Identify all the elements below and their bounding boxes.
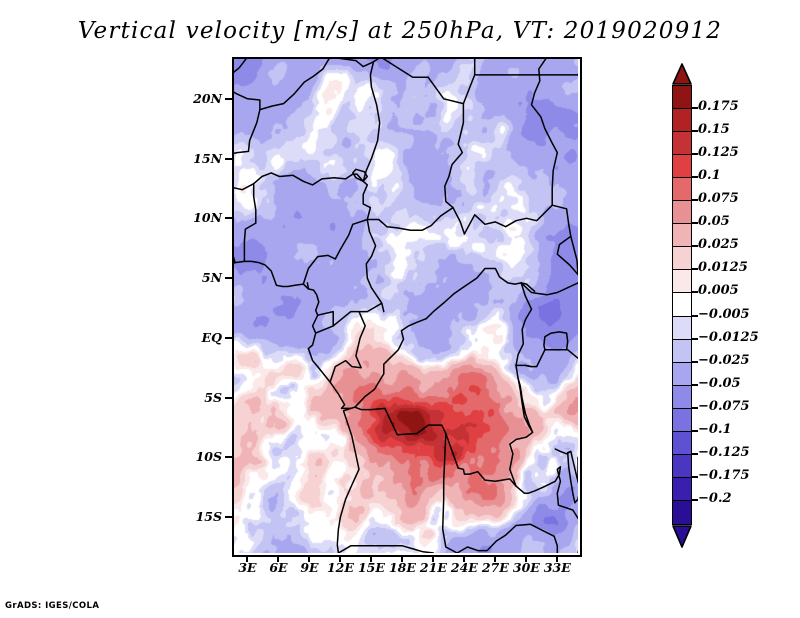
x-axis-label: 33E	[527, 560, 587, 575]
border-path	[232, 157, 254, 189]
colorbar-label: −0.125	[698, 445, 750, 460]
colorbar-swatch[interactable]	[672, 431, 692, 456]
colorbar-swatch[interactable]	[672, 362, 692, 387]
border-path	[544, 332, 568, 350]
border-path	[355, 407, 516, 486]
border-path	[232, 57, 260, 159]
y-axis-label: 10N	[193, 210, 222, 225]
border-path	[516, 365, 532, 366]
border-path	[568, 350, 578, 358]
border-path	[316, 312, 334, 334]
colorbar-swatch[interactable]	[672, 154, 692, 179]
colorbar-swatch[interactable]	[672, 269, 692, 294]
colorbar-swatch[interactable]	[672, 246, 692, 271]
colorbar-swatch[interactable]	[672, 385, 692, 410]
colorbar-swatch[interactable]	[672, 339, 692, 364]
y-axis-tick	[225, 516, 232, 518]
border-path	[457, 524, 557, 553]
border-path	[232, 205, 235, 262]
colorbar-label: −0.075	[698, 399, 750, 414]
border-path	[303, 181, 370, 284]
grads-plot-window: Vertical velocity [m/s] at 250hPa, VT: 2…	[0, 0, 800, 618]
border-path	[555, 449, 571, 454]
y-axis-label-wrap: 15N	[160, 151, 222, 165]
colorbar-swatch[interactable]	[672, 131, 692, 156]
border-path	[337, 408, 359, 553]
colorbar-label: 0.1	[698, 168, 721, 183]
border-path	[338, 546, 433, 553]
colorbar-swatch[interactable]	[672, 200, 692, 225]
colorbar-swatch[interactable]	[672, 85, 692, 110]
colorbar-label: 0.15	[698, 122, 730, 137]
y-axis-label-wrap: 15S	[160, 509, 222, 523]
colorbar-label: −0.05	[698, 376, 741, 391]
y-axis-label-wrap: 10S	[160, 449, 222, 463]
colorbar-label: −0.005	[698, 307, 750, 322]
border-path	[568, 451, 578, 502]
y-axis-label: 10S	[196, 449, 222, 464]
border-path	[330, 312, 365, 383]
border-path	[557, 467, 578, 553]
colorbar-label: −0.0125	[698, 330, 759, 345]
colorbar-label: 0.025	[698, 237, 739, 252]
colorbar-label: 0.075	[698, 191, 739, 206]
colorbar[interactable]: 0.1750.150.1250.10.0750.050.0250.01250.0…	[670, 60, 796, 556]
country-borders-overlay	[232, 57, 578, 553]
border-path	[260, 57, 330, 110]
y-axis-tick	[225, 158, 232, 160]
y-axis-label-wrap: EQ	[160, 330, 222, 344]
colorbar-swatch[interactable]	[672, 177, 692, 202]
y-axis-tick	[225, 277, 232, 279]
colorbar-swatch[interactable]	[672, 454, 692, 479]
colorbar-label: −0.175	[698, 468, 750, 483]
colorbar-swatch[interactable]	[672, 108, 692, 133]
y-axis-tick	[225, 98, 232, 100]
border-path	[518, 379, 533, 433]
y-axis-label-wrap: 20N	[160, 91, 222, 105]
y-axis-label-wrap: 10N	[160, 210, 222, 224]
x-axis-label-wrap: 33E	[527, 560, 587, 575]
colorbar-label: 0.125	[698, 145, 739, 160]
colorbar-min-arrow	[672, 524, 692, 546]
border-path	[307, 283, 308, 289]
colorbar-swatch[interactable]	[672, 500, 692, 525]
border-path	[308, 289, 355, 409]
page-title: Vertical velocity [m/s] at 250hPa, VT: 2…	[0, 18, 800, 44]
y-axis-label-wrap: 5N	[160, 270, 222, 284]
border-path	[463, 75, 578, 104]
colorbar-swatch[interactable]	[672, 408, 692, 433]
colorbar-max-arrow	[672, 63, 692, 85]
y-axis-tick	[225, 337, 232, 339]
colorbar-label: 0.175	[698, 99, 739, 114]
y-axis-label-wrap: 5S	[160, 390, 222, 404]
y-axis-tick	[225, 456, 232, 458]
border-path	[525, 350, 545, 367]
border-path	[363, 62, 380, 182]
map-plot-area[interactable]	[232, 57, 578, 553]
border-path	[443, 434, 458, 554]
colorbar-label: −0.025	[698, 353, 750, 368]
border-path	[355, 319, 426, 408]
border-path	[426, 269, 521, 319]
y-axis-tick	[225, 217, 232, 219]
border-path	[359, 303, 382, 311]
colorbar-label: 0.005	[698, 283, 739, 298]
border-path	[366, 220, 384, 312]
border-path	[464, 205, 578, 274]
colorbar-swatch[interactable]	[672, 223, 692, 248]
border-path	[244, 173, 363, 262]
colorbar-label: 0.0125	[698, 260, 748, 275]
border-path	[381, 57, 465, 234]
colorbar-label: −0.1	[698, 422, 732, 437]
y-axis-label: 15N	[193, 151, 222, 166]
colorbar-label: −0.2	[698, 491, 732, 506]
border-path	[367, 208, 453, 231]
y-axis-label: EQ	[202, 330, 222, 345]
border-path	[571, 236, 578, 274]
border-path	[510, 432, 561, 493]
y-axis-label: 15S	[196, 509, 222, 524]
border-path	[532, 57, 558, 205]
border-path	[521, 283, 578, 295]
credit-label: GrADS: IGES/COLA	[5, 601, 99, 611]
y-axis-tick	[225, 397, 232, 399]
border-path	[232, 261, 308, 289]
colorbar-swatch[interactable]	[672, 316, 692, 341]
y-axis-label: 5S	[204, 390, 222, 405]
colorbar-swatch[interactable]	[672, 292, 692, 317]
border-path	[516, 283, 532, 379]
colorbar-swatch[interactable]	[672, 477, 692, 502]
y-axis-label: 20N	[193, 91, 222, 106]
y-axis-label: 5N	[202, 270, 222, 285]
colorbar-label: 0.05	[698, 214, 730, 229]
